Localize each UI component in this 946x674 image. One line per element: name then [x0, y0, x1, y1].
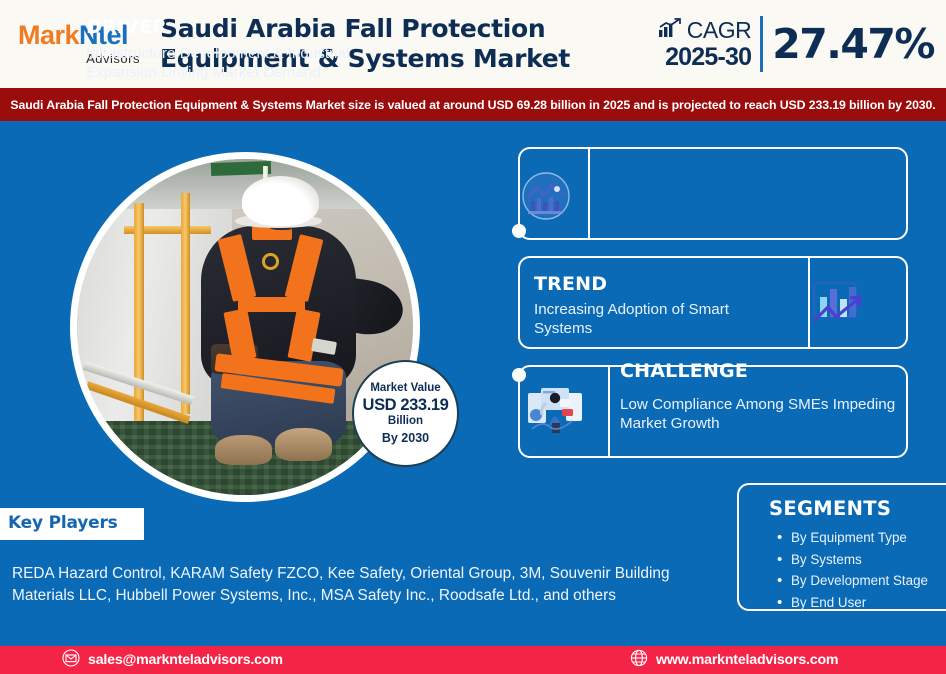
footer-website[interactable]: www.marknteladvisors.com — [630, 649, 838, 672]
envelope-icon — [62, 649, 80, 672]
footer-email-text: sales@marknteladvisors.com — [88, 652, 283, 668]
market-value-unit: Billion — [388, 415, 423, 428]
market-value-label: Market Value — [370, 382, 440, 395]
cagr-label: CAGR — [687, 19, 751, 42]
globe-icon — [630, 649, 648, 672]
segment-item: By Systems — [777, 549, 928, 571]
cagr-period: 2025-30 — [658, 43, 751, 71]
challenge-body: Low Compliance Among SMEs Impeding Marke… — [620, 395, 900, 434]
segments-list: By Equipment Type By Systems By Developm… — [777, 527, 928, 614]
segment-item: By End User — [777, 592, 928, 614]
cagr-value: 27.47% — [763, 24, 934, 65]
card-driver — [518, 147, 908, 240]
challenge-card-divider — [608, 367, 610, 456]
market-size-banner: Saudi Arabia Fall Protection Equipment &… — [0, 88, 946, 121]
person-dashboard-icon — [524, 385, 586, 437]
segments-title: SEGMENTS — [769, 497, 891, 520]
trend-heading: TREND — [534, 273, 607, 295]
driver-card-divider — [588, 149, 590, 238]
key-players-label: Key Players — [8, 513, 118, 533]
cagr-label-group: CAGR 2025-30 — [658, 18, 760, 71]
logo-part-mark: Mark — [18, 20, 79, 50]
globe-city-icon — [518, 168, 574, 224]
cagr-block: CAGR 2025-30 27.47% — [658, 5, 946, 83]
infographic-page: MarkNtel Advisors Saudi Arabia Fall Prot… — [0, 0, 946, 674]
cagr-label-row: CAGR — [658, 18, 751, 43]
footer-website-text: www.marknteladvisors.com — [656, 652, 838, 668]
segment-item: By Equipment Type — [777, 527, 928, 549]
growth-chart-icon — [658, 18, 683, 43]
driver-body: Infrastructure Development & Industrial … — [86, 44, 378, 83]
segment-item: By Development Stage — [777, 570, 928, 592]
challenge-heading: CHALLENGE — [620, 360, 748, 382]
market-value-year: By 2030 — [382, 431, 429, 445]
footer-email[interactable]: sales@marknteladvisors.com — [62, 649, 283, 672]
bar-chart-arrow-icon — [806, 277, 868, 331]
market-value-badge: Market Value USD 233.19 Billion By 2030 — [352, 360, 459, 467]
trend-body: Increasing Adoption of Smart Systems — [534, 300, 782, 339]
key-players-list: REDA Hazard Control, KARAM Safety FZCO, … — [12, 563, 712, 607]
driver-heading: DRIVER — [86, 16, 167, 38]
footer: sales@marknteladvisors.com www.markntela… — [0, 646, 946, 674]
segments-panel: SEGMENTS By Equipment Type By Systems By… — [737, 483, 946, 611]
market-value-amount: USD 233.19 — [363, 396, 449, 414]
